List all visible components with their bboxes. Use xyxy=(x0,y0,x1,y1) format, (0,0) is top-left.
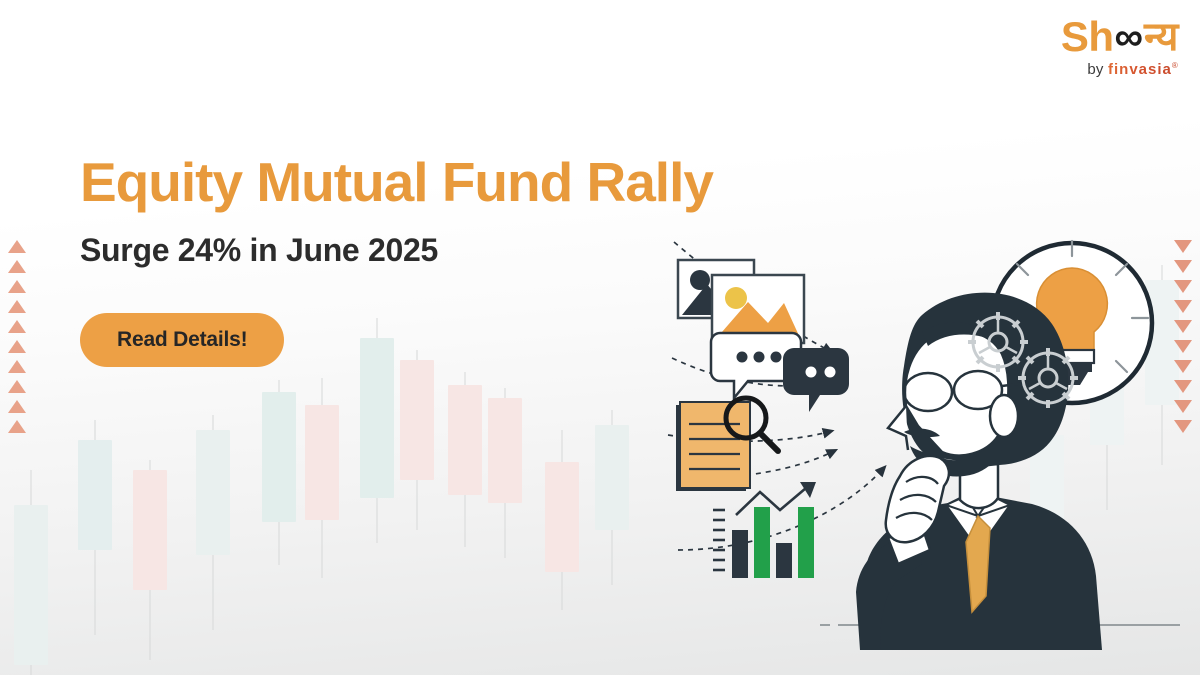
candlestick xyxy=(595,410,629,585)
candlestick-body xyxy=(133,470,167,590)
logo-devanagari: न्य xyxy=(1144,17,1178,57)
candlestick-body xyxy=(14,505,48,665)
candlestick-body xyxy=(196,430,230,555)
candlestick xyxy=(133,460,167,660)
candlestick-body xyxy=(305,405,339,520)
logo-wordmark: Sh∞न्य xyxy=(1061,16,1178,58)
candlestick xyxy=(545,430,579,610)
candlestick xyxy=(488,388,522,558)
arrow-up-icon xyxy=(8,400,26,413)
page-title: Equity Mutual Fund Rally xyxy=(80,152,900,214)
arrow-up-icon xyxy=(8,240,26,253)
left-up-arrow-column xyxy=(8,240,26,433)
arrow-up-icon xyxy=(8,420,26,433)
logo-prefix: Sh xyxy=(1061,16,1114,58)
candlestick-body xyxy=(448,385,482,495)
finvasia-wordmark: finvasia xyxy=(1108,61,1172,78)
registered-mark: ® xyxy=(1172,61,1178,70)
arrow-up-icon xyxy=(8,260,26,273)
candlestick xyxy=(196,415,230,630)
arrow-up-icon xyxy=(8,280,26,293)
arrow-up-icon xyxy=(8,380,26,393)
candlestick xyxy=(262,380,296,565)
candlestick xyxy=(78,420,112,635)
candlestick xyxy=(14,470,48,675)
chat-bubbles-icon xyxy=(711,333,849,412)
candlestick-body xyxy=(262,392,296,522)
logo-by-text: by xyxy=(1087,61,1103,78)
candlestick xyxy=(448,372,482,547)
read-details-button[interactable]: Read Details! xyxy=(80,313,284,367)
arrow-up-icon xyxy=(8,360,26,373)
bar-chart-growth-icon xyxy=(713,482,816,578)
candlestick-body xyxy=(595,425,629,530)
arrow-up-icon xyxy=(8,340,26,353)
candlestick xyxy=(305,378,339,578)
shoonya-logo[interactable]: Sh∞न्य by finvasia® xyxy=(1061,16,1178,78)
candlestick xyxy=(400,350,434,530)
candlestick-body xyxy=(400,360,434,480)
infinity-icon: ∞ xyxy=(1114,17,1143,57)
thinking-businessman-illustration xyxy=(660,220,1200,650)
candlestick-body xyxy=(488,398,522,503)
image-gallery-icon xyxy=(678,260,804,343)
candlestick-body xyxy=(78,440,112,550)
marketing-banner: Sh∞न्य by finvasia® Equity Mutual Fund R… xyxy=(0,0,1200,675)
candlestick-body xyxy=(545,462,579,572)
document-search-icon xyxy=(676,398,778,491)
logo-byline: by finvasia® xyxy=(1061,61,1178,78)
arrow-up-icon xyxy=(8,320,26,333)
arrow-up-icon xyxy=(8,300,26,313)
